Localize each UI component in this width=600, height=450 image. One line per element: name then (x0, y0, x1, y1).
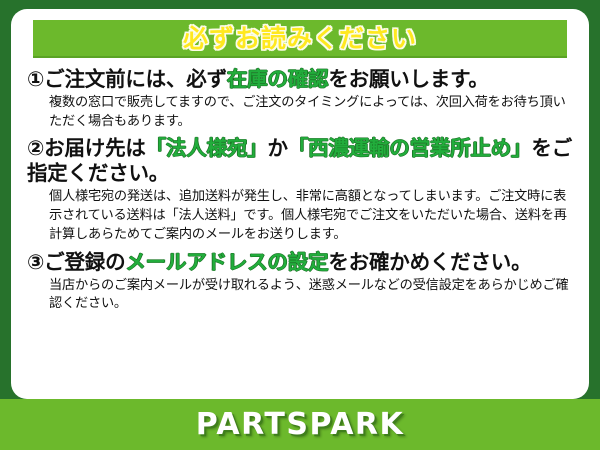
notice-item-1: ①ご注文前には、必ず在庫の確認をお願いします。 複数の窓口で販売してますので、ご… (27, 67, 575, 131)
notice-item-3-heading: ③ご登録のメールアドレスの設定をお確かめください。 (27, 250, 575, 275)
title-banner: 必ずお読みください (33, 20, 567, 58)
notice-item-3-heading-post: をお確かめください。 (328, 250, 531, 274)
notice-item-2-heading-mid: か (267, 136, 287, 160)
notice-item-2-heading: ②お届け先は「法人様宛」か「西濃運輸の営業所止め」をご指定ください。 (27, 136, 575, 186)
notice-item-1-body: 複数の窓口で販売してますので、ご注文のタイミングによっては、次回入荷をお待ち頂い… (27, 94, 575, 131)
notice-item-2-heading-highlight: 「法人様宛」 (146, 136, 268, 160)
notice-item-1-heading-pre: ご注文前には、必ず (44, 67, 227, 91)
brand-logo-text: PARTSPARK (196, 410, 405, 440)
notice-body: ①ご注文前には、必ず在庫の確認をお願いします。 複数の窓口で販売してますので、ご… (11, 67, 589, 319)
notice-item-2-body: 個人様宅宛の発送は、追加送料が発生し、非常に高額となってしまいます。ご注文時に表… (27, 188, 575, 244)
notice-item-3-body: 当店からのご案内メールが受け取れるよう、迷惑メールなどの受信設定をあらかじめご確… (27, 277, 575, 314)
notice-item-1-heading-post: をお願いします。 (328, 67, 488, 91)
notice-item-3-heading-highlight: メールアドレスの設定 (125, 250, 328, 274)
notice-frame: 必ずお読みください ①ご注文前には、必ず在庫の確認をお願いします。 複数の窓口で… (0, 0, 600, 450)
notice-item-1-heading: ①ご注文前には、必ず在庫の確認をお願いします。 (27, 67, 575, 92)
notice-item-1-marker: ① (27, 67, 44, 91)
notice-item-2-heading-pre: お届け先は (44, 136, 146, 160)
notice-item-3-marker: ③ (27, 250, 44, 274)
notice-item-2: ②お届け先は「法人様宛」か「西濃運輸の営業所止め」をご指定ください。 個人様宅宛… (27, 136, 575, 244)
notice-item-2-marker: ② (27, 136, 44, 160)
notice-item-1-heading-highlight: 在庫の確認 (227, 67, 329, 91)
page-title: 必ずお読みください (183, 26, 417, 51)
notice-item-2-heading-highlight2: 「西濃運輸の営業所止め」 (288, 136, 532, 160)
notice-item-3-heading-pre: ご登録の (44, 250, 125, 274)
footer-brand-bar: PARTSPARK (0, 399, 600, 450)
notice-item-3: ③ご登録のメールアドレスの設定をお確かめください。 当店からのご案内メールが受け… (27, 250, 575, 314)
notice-card: 必ずお読みください ①ご注文前には、必ず在庫の確認をお願いします。 複数の窓口で… (11, 9, 589, 399)
